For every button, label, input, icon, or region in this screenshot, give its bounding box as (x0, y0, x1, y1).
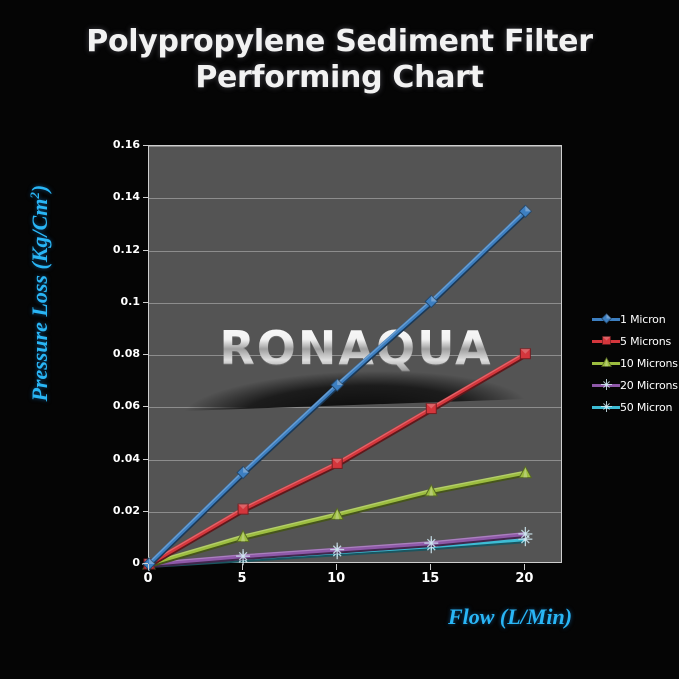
title-line-2: Performing Chart (0, 60, 679, 96)
legend-marker-icon (601, 335, 612, 346)
legend-swatch (592, 356, 620, 370)
x-tick-mark (242, 564, 243, 570)
data-point-marker (520, 349, 530, 359)
data-point-marker (603, 337, 611, 345)
legend-item[interactable]: 20 Microns (592, 374, 678, 396)
legend-label: 5 Microns (620, 335, 671, 348)
plot-area: RONAQUA (148, 145, 562, 563)
y-tick-mark (143, 302, 148, 303)
legend-swatch (592, 334, 620, 348)
title-line-1: Polypropylene Sediment Filter (86, 24, 592, 59)
legend-marker-icon (601, 379, 612, 390)
y-tick-label: 0.04 (96, 452, 140, 465)
legend-item[interactable]: 50 Micron (592, 396, 678, 418)
y-tick-label: 0.12 (96, 243, 140, 256)
y-tick-label: 0.1 (96, 295, 140, 308)
data-point-marker (426, 404, 436, 414)
x-tick-label: 10 (316, 571, 356, 586)
legend-item[interactable]: 10 Microns (592, 352, 678, 374)
data-point-marker (602, 314, 611, 323)
y-tick-mark (143, 354, 148, 355)
y-axis-title-exponent: 2 (27, 192, 42, 199)
chart-page: Polypropylene Sediment Filter Performing… (0, 0, 679, 679)
legend-swatch (592, 378, 620, 392)
legend: 1 Micron5 Microns10 Microns20 Microns50 … (592, 308, 678, 418)
legend-marker-icon (601, 313, 612, 324)
y-tick-label: 0 (96, 556, 140, 569)
legend-item[interactable]: 1 Micron (592, 308, 678, 330)
x-tick-mark (430, 564, 431, 570)
y-axis-title: Pressure Loss (Kg/Cm2) (27, 133, 53, 453)
data-point-marker (601, 379, 612, 390)
x-tick-mark (336, 564, 337, 570)
y-tick-label: 0.02 (96, 504, 140, 517)
x-tick-label: 0 (128, 571, 168, 586)
legend-marker-icon (601, 357, 612, 368)
legend-label: 20 Microns (620, 379, 678, 392)
data-point-marker (238, 504, 248, 514)
legend-item[interactable]: 5 Microns (592, 330, 678, 352)
x-tick-mark (524, 564, 525, 570)
y-tick-mark (143, 197, 148, 198)
x-tick-mark (148, 564, 149, 570)
data-point-marker (602, 358, 611, 367)
y-tick-label: 0.14 (96, 190, 140, 203)
legend-label: 1 Micron (620, 313, 665, 326)
x-tick-label: 15 (410, 571, 450, 586)
legend-swatch (592, 312, 620, 326)
y-tick-label: 0.06 (96, 399, 140, 412)
legend-label: 10 Microns (620, 357, 678, 370)
data-point-marker (332, 458, 342, 468)
y-axis-title-close: ) (27, 185, 52, 192)
legend-label: 50 Micron (620, 401, 672, 414)
y-tick-mark (143, 459, 148, 460)
x-tick-label: 5 (222, 571, 262, 586)
legend-swatch (592, 400, 620, 414)
data-point-marker (601, 401, 612, 412)
y-tick-mark (143, 406, 148, 407)
y-axis-title-main: Pressure Loss (Kg/Cm (27, 199, 52, 402)
y-tick-mark (143, 250, 148, 251)
y-tick-label: 0.08 (96, 347, 140, 360)
x-axis-title: Flow (L/Min) (390, 604, 630, 630)
legend-marker-icon (601, 401, 612, 412)
series-plot (149, 146, 563, 564)
y-tick-mark (143, 511, 148, 512)
page-title: Polypropylene Sediment Filter Performing… (0, 24, 679, 96)
y-tick-label: 0.16 (96, 138, 140, 151)
y-tick-mark (143, 145, 148, 146)
x-tick-label: 20 (504, 571, 544, 586)
